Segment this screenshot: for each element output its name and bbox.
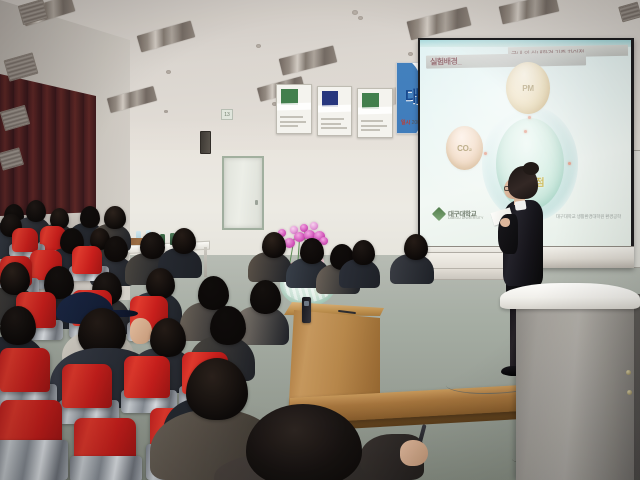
bubble-pm-label: PM [506,84,550,93]
slide-connector-dot [568,162,571,165]
foreground-hand [400,440,428,466]
bubble-pm: PM [506,62,550,114]
orchid-bloom [310,222,318,230]
poster-text-line [361,120,383,122]
podium-body [516,300,634,480]
presenter-hair-bun [523,162,539,175]
podium-top [500,283,640,309]
attendee-head [104,236,128,262]
poster-center [317,86,352,136]
ceiling-downlight [408,52,413,56]
attendee-head [186,358,248,420]
poster-text-line [321,118,344,120]
ceiling-downlight [358,16,363,20]
slide-title-text: 실험배경_ [430,56,462,68]
seat-frame [0,440,68,480]
attendee-head [250,280,281,314]
bubble-co2: CO₂ [446,126,483,170]
attendee-head [80,206,100,228]
table-leg [204,247,207,277]
slide-connector-dot [528,116,531,119]
slide-title-bar: 실험배경_ [426,52,586,68]
attendee-head [172,228,196,254]
banner-footer-label: 일시 [401,120,410,126]
auditorium-seat [12,228,38,252]
poster-text-line [321,123,341,125]
remote-control[interactable] [302,297,311,323]
poster-text-line [321,127,347,129]
attendee-head [146,268,175,299]
attendee-head [300,238,324,264]
auditorium-seat [72,246,102,274]
wall-sign: 13 [221,109,233,120]
attendee-hand [130,318,152,344]
attendee-head [198,276,229,310]
seat-frame [70,456,142,480]
ceiling-downlight [166,70,171,74]
diamond-logo-icon [432,207,446,221]
attendee-head [0,306,36,345]
slide-footer-note: 대구대학교 생활환경대학원 환경공학 [556,214,621,220]
slide-connector-dot [524,130,527,133]
wall-speaker [200,131,211,154]
attendee-head [262,232,286,258]
poster-left [276,84,312,134]
poster-text-line [280,116,302,118]
poster-text-line [280,125,298,127]
attendee-head [404,234,428,260]
slide-university-logo: 대구대학교 DAEGU UNIVERSITY [434,208,496,222]
side-door[interactable] [222,156,264,230]
attendee-head [150,318,186,357]
presenter-hand [500,218,510,227]
attendee-head [26,200,46,222]
attendee-head [210,306,246,345]
attendee-head [104,206,126,229]
poster-glare [276,103,312,111]
presenter-collar [514,200,526,210]
lecture-hall-photo: 13 대구 대 일시 2009. 11. 국내·외 실내환경 기준 차이점 실험… [0,0,640,480]
door-knob[interactable] [255,200,258,205]
auditorium-seat [62,364,112,408]
ceiling-downlight [164,110,168,113]
slide-connector-dot [484,152,487,155]
auditorium-seat [124,356,170,398]
logo-secondary-text: DAEGU UNIVERSITY [448,216,483,220]
auditorium-seat [0,348,50,392]
remote-screen [304,301,309,306]
poster-glare [317,105,352,113]
ceiling-downlight [352,10,358,15]
poster-text-line [361,129,380,131]
podium-fitting [627,390,632,395]
ceiling-downlight [256,44,261,48]
poster-right [357,88,393,138]
poster-glare [357,107,393,115]
attendee-head [0,262,30,295]
podium-fitting [626,370,631,375]
bubble-co2-label: CO₂ [446,144,483,153]
poster-text-line [361,125,387,127]
poster-text-line [280,121,305,123]
attendee-head [352,240,375,265]
